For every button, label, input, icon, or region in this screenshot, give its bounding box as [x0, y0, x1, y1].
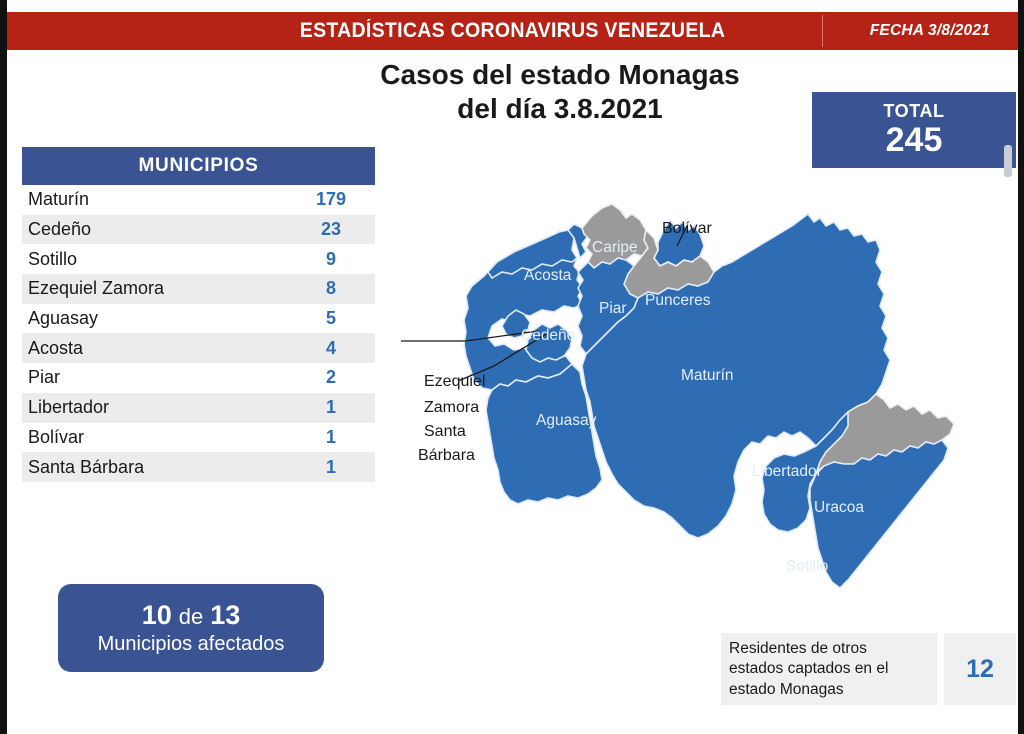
- map-label-uracoa: Uracoa: [814, 499, 864, 516]
- table-row[interactable]: Cedeño23: [22, 215, 375, 245]
- residents-divider: [937, 633, 944, 705]
- residents-value: 12: [944, 633, 1016, 705]
- page-title-line-1: Casos del estado Monagas: [300, 58, 820, 92]
- table-cell-count: 8: [287, 278, 375, 299]
- map-label-punceres: Punceres: [645, 292, 711, 309]
- table-cell-count: 1: [287, 427, 375, 448]
- total-box: TOTAL 245: [812, 92, 1016, 168]
- header-title: ESTADÍSTICAS CORONAVIRUS VENEZUELA: [42, 19, 982, 43]
- residents-label: Residentes de otros estados captados en …: [721, 633, 937, 705]
- table-cell-municipio: Maturín: [22, 189, 287, 210]
- table-cell-count: 1: [287, 397, 375, 418]
- total-label: TOTAL: [883, 102, 944, 122]
- table-cell-count: 179: [287, 189, 375, 210]
- page-edge-left: [0, 0, 7, 734]
- table-cell-municipio: Bolívar: [22, 427, 287, 448]
- table-row[interactable]: Aguasay5: [22, 304, 375, 334]
- table-cell-municipio: Ezequiel Zamora: [22, 278, 287, 299]
- table-row[interactable]: Maturín179: [22, 185, 375, 215]
- table-cell-count: 2: [287, 367, 375, 388]
- table-header-municipios: MUNICIPIOS: [22, 147, 375, 185]
- map-label-bolivar: Bolívar: [662, 220, 712, 237]
- page-title-line-2: del día 3.8.2021: [300, 92, 820, 126]
- header-date: FECHA 3/8/2021: [870, 22, 990, 40]
- table-cell-municipio: Santa Bárbara: [22, 457, 287, 478]
- affected-municipalities-badge: 10 de 13 Municipios afectados: [58, 584, 324, 672]
- municipios-table: MUNICIPIOS Maturín179Cedeño23Sotillo9Eze…: [22, 147, 375, 482]
- map-label-maturin: Maturín: [681, 367, 734, 384]
- table-cell-municipio: Sotillo: [22, 249, 287, 270]
- map-region-caripe[interactable]: [582, 204, 648, 268]
- residents-label-line-2: estados captados en el: [729, 659, 929, 679]
- table-row[interactable]: Ezequiel Zamora8: [22, 274, 375, 304]
- page-title: Casos del estado Monagas del día 3.8.202…: [300, 58, 820, 126]
- map-label-aguasay: Aguasay: [536, 412, 597, 429]
- table-cell-municipio: Cedeño: [22, 219, 287, 240]
- table-body: Maturín179Cedeño23Sotillo9Ezequiel Zamor…: [22, 185, 375, 482]
- table-cell-municipio: Libertador: [22, 397, 287, 418]
- infographic-page: ESTADÍSTICAS CORONAVIRUS VENEZUELA FECHA…: [0, 0, 1024, 734]
- affected-caption: Municipios afectados: [98, 633, 285, 656]
- map-label-libertador: Libertador: [752, 463, 822, 480]
- scrollbar-thumb[interactable]: [1004, 145, 1012, 177]
- table-row[interactable]: Bolívar1: [22, 423, 375, 453]
- table-row[interactable]: Piar2: [22, 363, 375, 393]
- affected-ratio: 10 de 13: [142, 600, 240, 631]
- table-row[interactable]: Libertador1: [22, 393, 375, 423]
- table-cell-count: 5: [287, 308, 375, 329]
- table-cell-municipio: Piar: [22, 367, 287, 388]
- table-cell-municipio: Acosta: [22, 338, 287, 359]
- map-label-acosta: Acosta: [524, 267, 572, 284]
- header-divider: [822, 15, 823, 47]
- map-callout-zamora: Zamora: [424, 399, 479, 416]
- table-row[interactable]: Santa Bárbara1: [22, 452, 375, 482]
- header-bar: ESTADÍSTICAS CORONAVIRUS VENEZUELA FECHA…: [7, 12, 1018, 50]
- map-callout-barbara: Bárbara: [418, 447, 475, 464]
- map-callout-ezequiel: Ezequiel: [424, 373, 485, 390]
- residents-label-line-1: Residentes de otros: [729, 639, 929, 659]
- map-label-cedeno: Cedeño: [521, 327, 575, 344]
- map-label-piar: Piar: [599, 300, 627, 317]
- residents-from-other-states-box: Residentes de otros estados captados en …: [721, 633, 1016, 705]
- affected-denominator: 13: [210, 600, 240, 630]
- map-label-caripe: Caripe: [592, 239, 638, 256]
- table-row[interactable]: Sotillo9: [22, 244, 375, 274]
- table-cell-count: 1: [287, 457, 375, 478]
- affected-connector: de: [179, 604, 203, 629]
- table-cell-count: 4: [287, 338, 375, 359]
- total-value: 245: [886, 123, 943, 159]
- table-row[interactable]: Acosta4: [22, 333, 375, 363]
- table-cell-count: 9: [287, 249, 375, 270]
- table-cell-count: 23: [287, 219, 375, 240]
- monagas-state-map: Acosta Caripe Bolívar Piar Punceres Cede…: [396, 188, 1024, 618]
- table-cell-municipio: Aguasay: [22, 308, 287, 329]
- map-callout-santa: Santa: [424, 423, 466, 440]
- residents-label-line-3: estado Monagas: [729, 680, 929, 700]
- affected-numerator: 10: [142, 600, 172, 630]
- map-label-sotillo: Sotillo: [786, 558, 828, 575]
